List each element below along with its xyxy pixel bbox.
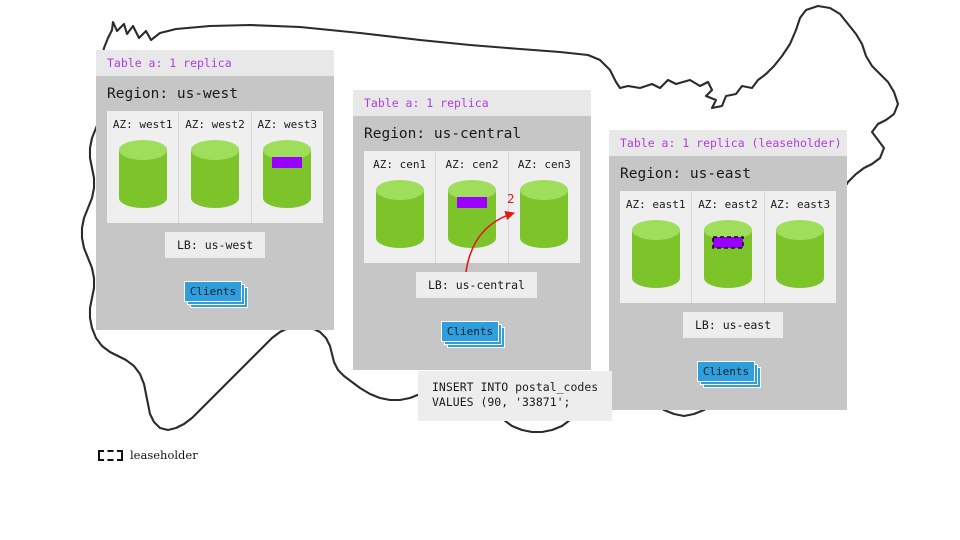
region-panel-us-central: Table a: 1 replica Region: us-central AZ… bbox=[353, 90, 591, 370]
az-cell-east3[interactable]: AZ: east3 bbox=[765, 191, 836, 303]
clients-label-us-west: Clients bbox=[184, 281, 242, 302]
az-label-east2: AZ: east2 bbox=[692, 198, 763, 211]
az-cell-east1[interactable]: AZ: east1 bbox=[620, 191, 692, 303]
legend: leaseholder bbox=[98, 448, 198, 462]
az-strip-us-central: AZ: cen1 AZ: cen2 AZ: cen3 bbox=[364, 151, 580, 263]
az-label-cen2: AZ: cen2 bbox=[436, 158, 507, 171]
cylinder-cen1 bbox=[374, 178, 426, 250]
clients-label-us-central: Clients bbox=[441, 321, 499, 342]
cylinder-west2 bbox=[189, 138, 241, 210]
panel-header-us-west: Table a: 1 replica bbox=[96, 50, 334, 76]
az-cell-cen3[interactable]: AZ: cen3 bbox=[509, 151, 580, 263]
legend-label: leaseholder bbox=[130, 448, 198, 462]
az-strip-us-east: AZ: east1 AZ: east2 AZ: east3 bbox=[620, 191, 836, 303]
az-label-east3: AZ: east3 bbox=[765, 198, 836, 211]
region-title-us-east: Region: us-east bbox=[609, 156, 847, 191]
clients-us-west[interactable]: Clients bbox=[184, 281, 246, 305]
panel-header-us-east: Table a: 1 replica (leaseholder) bbox=[609, 130, 847, 156]
az-cell-cen1[interactable]: AZ: cen1 bbox=[364, 151, 436, 263]
az-cell-west1[interactable]: AZ: west1 bbox=[107, 111, 179, 223]
replica-block-west3 bbox=[272, 157, 302, 168]
load-balancer-us-east[interactable]: LB: us-east bbox=[683, 312, 783, 338]
cylinder-west1 bbox=[117, 138, 169, 210]
replica-block-east2 bbox=[713, 237, 743, 248]
sql-statement-box: INSERT INTO postal_codes VALUES (90, '33… bbox=[418, 371, 612, 421]
az-cell-west3[interactable]: AZ: west3 bbox=[252, 111, 323, 223]
replica-block-cen2 bbox=[457, 197, 487, 208]
load-balancer-us-west[interactable]: LB: us-west bbox=[165, 232, 265, 258]
load-balancer-us-central[interactable]: LB: us-central bbox=[416, 272, 537, 298]
region-title-us-central: Region: us-central bbox=[353, 116, 591, 151]
az-cell-west2[interactable]: AZ: west2 bbox=[179, 111, 251, 223]
clients-label-us-east: Clients bbox=[697, 361, 755, 382]
az-label-cen1: AZ: cen1 bbox=[364, 158, 435, 171]
az-strip-us-west: AZ: west1 AZ: west2 AZ: west3 bbox=[107, 111, 323, 223]
az-label-cen3: AZ: cen3 bbox=[509, 158, 580, 171]
panel-header-us-central: Table a: 1 replica bbox=[353, 90, 591, 116]
cylinder-cen2 bbox=[446, 178, 498, 250]
cylinder-east3 bbox=[774, 218, 826, 290]
cylinder-east1 bbox=[630, 218, 682, 290]
region-panel-us-west: Table a: 1 replica Region: us-west AZ: w… bbox=[96, 50, 334, 330]
az-label-west3: AZ: west3 bbox=[252, 118, 323, 131]
clients-us-central[interactable]: Clients bbox=[441, 321, 503, 345]
az-cell-cen2[interactable]: AZ: cen2 bbox=[436, 151, 508, 263]
az-label-west1: AZ: west1 bbox=[107, 118, 178, 131]
cylinder-west3 bbox=[261, 138, 313, 210]
clients-us-east[interactable]: Clients bbox=[697, 361, 759, 385]
cylinder-east2 bbox=[702, 218, 754, 290]
az-cell-east2[interactable]: AZ: east2 bbox=[692, 191, 764, 303]
az-label-west2: AZ: west2 bbox=[179, 118, 250, 131]
cylinder-cen3 bbox=[518, 178, 570, 250]
region-title-us-west: Region: us-west bbox=[96, 76, 334, 111]
az-label-east1: AZ: east1 bbox=[620, 198, 691, 211]
leaseholder-swatch-icon bbox=[98, 450, 123, 461]
region-panel-us-east: Table a: 1 replica (leaseholder) Region:… bbox=[609, 130, 847, 410]
arrow-step-label-2: 2 bbox=[507, 192, 515, 206]
